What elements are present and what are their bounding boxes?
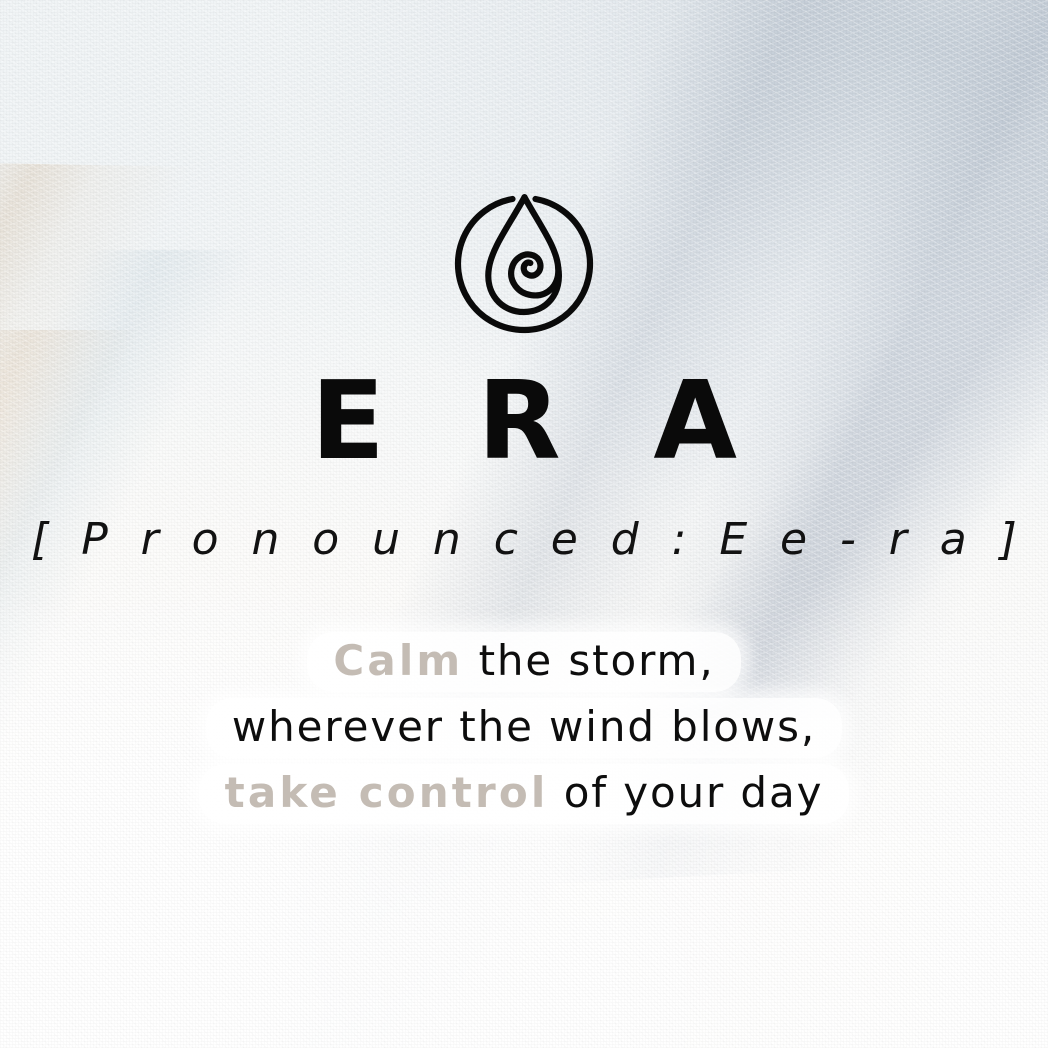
tagline-plain-the-storm: the storm, — [463, 636, 714, 685]
tagline-plain-of-your-day: of your day — [548, 768, 823, 817]
tagline-line-2: wherever the wind blows, — [0, 698, 1048, 758]
tagline-line-3: take control of your day — [0, 764, 1048, 824]
pronunciation-label: [ P r o n o u n c e d : E e - r a ] — [0, 512, 1048, 568]
tagline-block: Calm the storm, wherever the wind blows,… — [0, 632, 1048, 824]
tagline-pill-3: take control of your day — [199, 764, 850, 824]
brand-poster-canvas: E R A [ P r o n o u n c e d : E e - r a … — [0, 0, 1048, 1048]
tagline-plain-wherever-the-wind-blows: wherever the wind blows, — [232, 702, 816, 751]
tagline-accent-take-control: take control — [225, 768, 549, 817]
page-title: E R A — [0, 372, 1048, 472]
tagline-line-1: Calm the storm, — [0, 632, 1048, 692]
tagline-pill-2: wherever the wind blows, — [206, 698, 842, 758]
tagline-pill-1: Calm the storm, — [307, 632, 740, 692]
poster-content: E R A [ P r o n o u n c e d : E e - r a … — [0, 0, 1048, 1048]
tagline-accent-calm: Calm — [333, 636, 463, 685]
water-droplet-spiral-circle-icon — [452, 193, 596, 337]
